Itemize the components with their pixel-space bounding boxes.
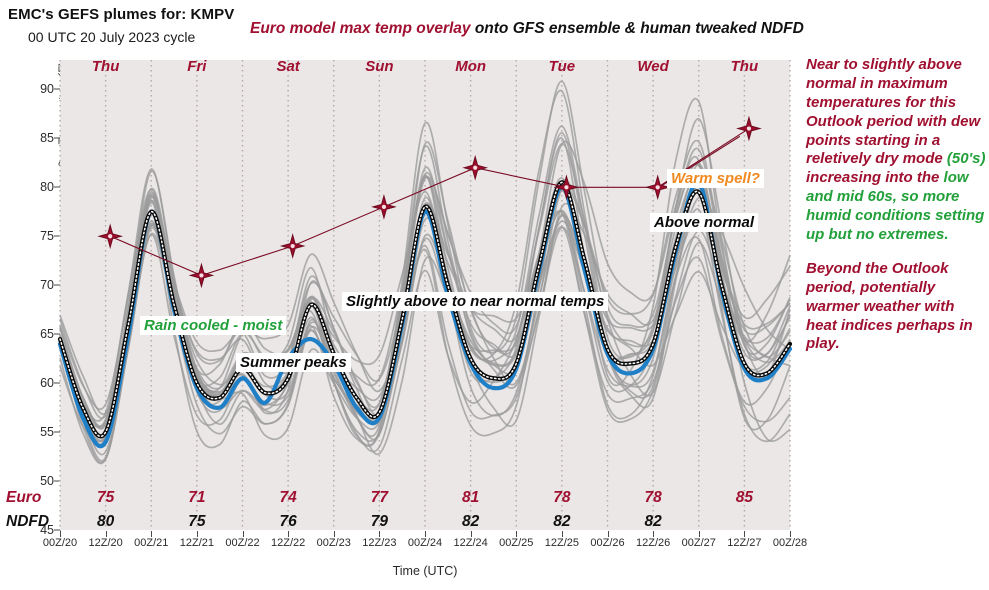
summer-peaks-annotation: Summer peaks bbox=[236, 353, 351, 372]
x-axis-label: Time (UTC) bbox=[60, 564, 790, 578]
y-axis-ticks: 90858075706560555045 bbox=[14, 60, 54, 530]
x-tick-label: 12Z/25 bbox=[545, 537, 579, 549]
x-tick-mark bbox=[653, 531, 654, 537]
y-tick-label: 90 bbox=[20, 82, 54, 96]
ndfd-value: 82 bbox=[645, 513, 662, 531]
x-tick-label: 12Z/24 bbox=[454, 537, 488, 549]
euro-value: 74 bbox=[280, 489, 297, 507]
day-label: Sun bbox=[365, 58, 393, 75]
commentary-2-run-0: Beyond the Outlook period, potentially w… bbox=[806, 260, 973, 353]
y-tick-label: 75 bbox=[20, 229, 54, 243]
day-label: Thu bbox=[731, 58, 759, 75]
x-tick-mark bbox=[471, 531, 472, 537]
model-cycle-label: 00 UTC 20 July 2023 cycle bbox=[28, 29, 195, 45]
euro-value: 85 bbox=[736, 489, 753, 507]
ndfd-value: 75 bbox=[188, 513, 205, 531]
x-tick-mark bbox=[699, 531, 700, 537]
x-tick-mark bbox=[608, 531, 609, 537]
x-tick-mark bbox=[425, 531, 426, 537]
forecast-commentary: Near to slightly above normal in maximum… bbox=[806, 56, 986, 369]
commentary-1-run-1: (50's) bbox=[947, 150, 986, 167]
day-label: Tue bbox=[549, 58, 575, 75]
x-tick-label: 00Z/28 bbox=[773, 537, 807, 549]
commentary-paragraph-1: Near to slightly above normal in maximum… bbox=[806, 56, 986, 245]
ndfd-value: 82 bbox=[553, 513, 570, 531]
x-tick-mark bbox=[562, 531, 563, 537]
x-tick-mark bbox=[151, 531, 152, 537]
y-tick-label: 65 bbox=[20, 327, 54, 341]
x-tick-label: 00Z/24 bbox=[408, 537, 442, 549]
euro-value: 77 bbox=[371, 489, 388, 507]
x-tick-label: 00Z/26 bbox=[590, 537, 624, 549]
euro-value: 78 bbox=[645, 489, 662, 507]
ndfd-row-label: NDFD bbox=[6, 513, 49, 531]
ndfd-value: 82 bbox=[462, 513, 479, 531]
above-normal-annotation: Above normal bbox=[650, 213, 758, 232]
x-tick-label: 00Z/27 bbox=[682, 537, 716, 549]
y-tick-label: 85 bbox=[20, 131, 54, 145]
x-tick-mark bbox=[744, 531, 745, 537]
x-tick-mark bbox=[60, 531, 61, 537]
euro-row-label: Euro bbox=[6, 489, 41, 507]
euro-value: 71 bbox=[188, 489, 205, 507]
x-tick-mark bbox=[243, 531, 244, 537]
x-axis-ticks: 00Z/2012Z/2000Z/2112Z/2100Z/2212Z/2200Z/… bbox=[0, 537, 989, 557]
day-label: Fri bbox=[187, 58, 206, 75]
x-tick-label: 12Z/27 bbox=[727, 537, 761, 549]
ndfd-value: 80 bbox=[97, 513, 114, 531]
overlay-title-black: onto GFS ensemble & human tweaked NDFD bbox=[471, 20, 804, 37]
ndfd-value: 76 bbox=[280, 513, 297, 531]
x-tick-label: 00Z/22 bbox=[225, 537, 259, 549]
y-tick-label: 60 bbox=[20, 376, 54, 390]
day-label: Thu bbox=[92, 58, 120, 75]
rain-cooled-annotation: Rain cooled - moist bbox=[140, 316, 286, 335]
x-tick-mark bbox=[106, 531, 107, 537]
euro-value: 78 bbox=[553, 489, 570, 507]
x-tick-label: 12Z/22 bbox=[271, 537, 305, 549]
x-tick-mark bbox=[334, 531, 335, 537]
x-tick-label: 12Z/23 bbox=[362, 537, 396, 549]
x-tick-mark bbox=[197, 531, 198, 537]
commentary-1-run-2: increasing into the bbox=[806, 169, 944, 186]
day-label: Sat bbox=[276, 58, 299, 75]
x-tick-label: 00Z/23 bbox=[317, 537, 351, 549]
x-tick-label: 12Z/20 bbox=[89, 537, 123, 549]
x-tick-mark bbox=[516, 531, 517, 537]
x-tick-label: 12Z/21 bbox=[180, 537, 214, 549]
y-tick-label: 55 bbox=[20, 425, 54, 439]
day-label: Wed bbox=[637, 58, 668, 75]
slightly-above-normal-annotation: Slightly above to near normal temps bbox=[342, 292, 608, 311]
euro-value: 75 bbox=[97, 489, 114, 507]
x-tick-label: 00Z/25 bbox=[499, 537, 533, 549]
euro-value: 81 bbox=[462, 489, 479, 507]
ndfd-value: 79 bbox=[371, 513, 388, 531]
overlay-title: Euro model max temp overlay onto GFS ens… bbox=[250, 20, 804, 38]
page-title: EMC's GEFS plumes for: KMPV bbox=[8, 6, 234, 23]
y-tick-label: 80 bbox=[20, 180, 54, 194]
day-label: Mon bbox=[455, 58, 486, 75]
x-tick-label: 00Z/21 bbox=[134, 537, 168, 549]
warm-spell-annotation: Warm spell? bbox=[667, 169, 764, 188]
overlay-title-red: Euro model max temp overlay bbox=[250, 20, 471, 37]
y-tick-label: 70 bbox=[20, 278, 54, 292]
x-tick-mark bbox=[790, 531, 791, 537]
commentary-paragraph-2: Beyond the Outlook period, potentially w… bbox=[806, 260, 986, 354]
x-tick-label: 12Z/26 bbox=[636, 537, 670, 549]
x-tick-label: 00Z/20 bbox=[43, 537, 77, 549]
x-tick-mark bbox=[288, 531, 289, 537]
chart-page: EMC's GEFS plumes for: KMPV 00 UTC 20 Ju… bbox=[0, 0, 989, 590]
x-tick-mark bbox=[379, 531, 380, 537]
y-tick-label: 50 bbox=[20, 474, 54, 488]
